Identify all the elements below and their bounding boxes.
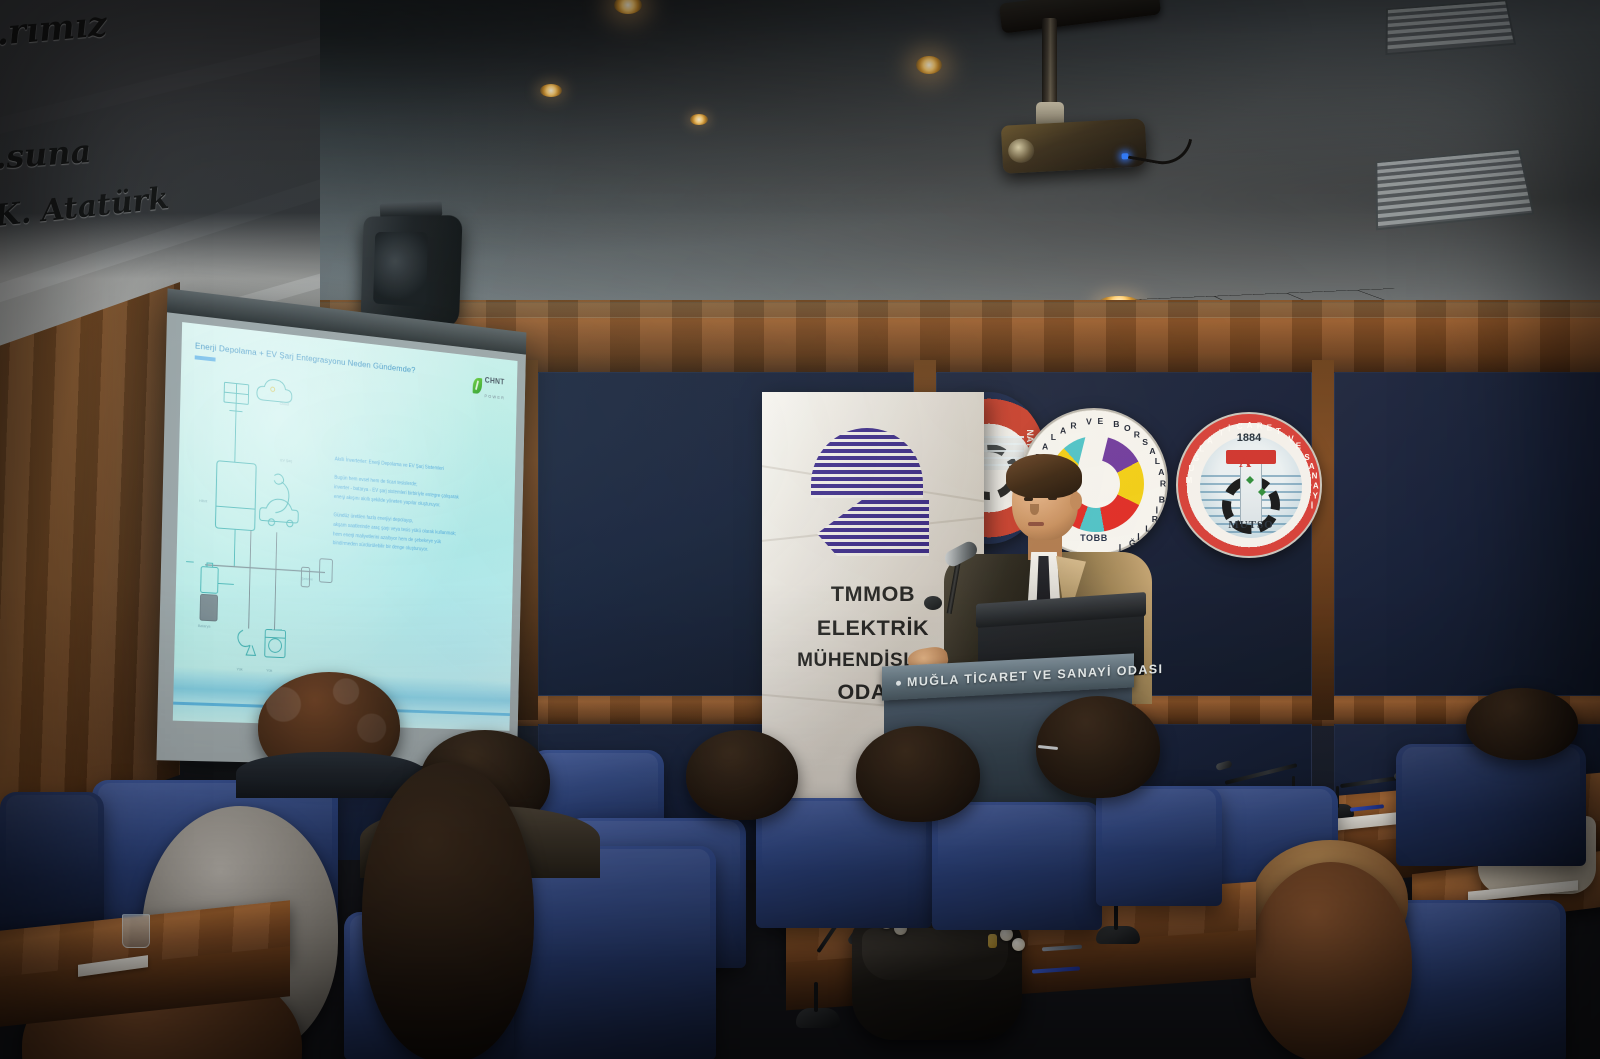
- wall-glass-strip: [300, 302, 1600, 318]
- handbag-pearl-detail: [1012, 938, 1025, 951]
- seat: [1396, 744, 1586, 866]
- speaker-ear: [1070, 492, 1082, 510]
- slide-title: Enerji Depolama + EV Şarj Entegrasyonu N…: [195, 340, 416, 374]
- projector-body: [1001, 118, 1147, 173]
- microphone-base: [1096, 926, 1140, 944]
- diagram-label-battery: Batarya: [198, 624, 210, 629]
- chint-power-logo: CHNT POWER: [473, 370, 506, 403]
- chint-logo-name: CHNT: [485, 376, 505, 387]
- lectern-microphone-base: [924, 596, 942, 610]
- wall-panel: [1334, 372, 1600, 696]
- lamp-icon: [237, 630, 256, 655]
- downlight-icon: [540, 84, 562, 97]
- downlight-icon: [916, 56, 942, 74]
- ev-charger-icon: [274, 474, 290, 514]
- emblem-mutso: M U Ğ L A T İ C A R E T V E S A N A Y İ …: [1176, 412, 1322, 558]
- battery-icon: [200, 563, 218, 621]
- ceiling-projector: [990, 0, 1190, 194]
- emblem-mutso-abbr: MUTSO: [1228, 519, 1273, 531]
- emblem-mutso-year: 1884: [1237, 432, 1261, 444]
- lectern-plate-text: MUĞLA TİCARET VE SANAYİ ODASI: [907, 662, 1163, 689]
- microphone-neck: [814, 982, 818, 1012]
- audience-head: [362, 762, 534, 1059]
- water-glass: [122, 914, 150, 948]
- handbag-clasp: [988, 934, 997, 948]
- seat: [932, 802, 1102, 930]
- ev-car-icon: [259, 498, 298, 528]
- solar-panel-icon: [224, 382, 249, 412]
- speaker-hair: [1006, 454, 1082, 498]
- slide-body-text: Akıllı İnverterler: Enerji Depolama ve E…: [333, 456, 499, 561]
- audience-head: [686, 730, 798, 820]
- conference-hall-photo: NAYİ ODASI O D A L A R V E B O R S A L A…: [0, 0, 1600, 1059]
- meter-icon: [301, 557, 332, 588]
- diagram-label-inverter: Hibrit: [199, 499, 208, 504]
- leaf-icon: [473, 377, 483, 394]
- speaker-mouth: [1028, 522, 1044, 526]
- audience-head: [1250, 862, 1412, 1059]
- grid-icon: [184, 561, 194, 562]
- lectern-plate-bullet-icon: [896, 680, 901, 685]
- audience-head: [856, 726, 980, 822]
- handbag-flap: [862, 928, 1008, 980]
- emblem-monogram: A: [1239, 452, 1251, 472]
- emblem-mutso-inner: A MUTSO: [1200, 436, 1302, 538]
- seat: [0, 792, 104, 942]
- speaker-nose: [1030, 504, 1039, 515]
- chint-logo-sub: POWER: [484, 394, 505, 401]
- projector-mount-bar: [999, 0, 1161, 34]
- left-wall-wood-trim: [0, 282, 180, 842]
- wall-loudspeaker: [361, 215, 463, 329]
- appliance-icon: [265, 629, 286, 657]
- diagram-label-cloud: Cloud: [280, 402, 289, 407]
- inverter-icon: [215, 461, 256, 531]
- downlight-icon: [690, 114, 708, 125]
- presentation-slide: Enerji Depolama + EV Şarj Entegrasyonu N…: [173, 322, 518, 731]
- projector-lens-icon: [1008, 138, 1035, 163]
- microphone-base: [796, 1008, 840, 1028]
- seat: [1096, 786, 1222, 906]
- cloud-icon: [257, 378, 292, 403]
- slide-accent-bar: [195, 355, 216, 361]
- audience-head: [1466, 688, 1578, 760]
- diagram-label-grid: Şebeke: [301, 577, 313, 582]
